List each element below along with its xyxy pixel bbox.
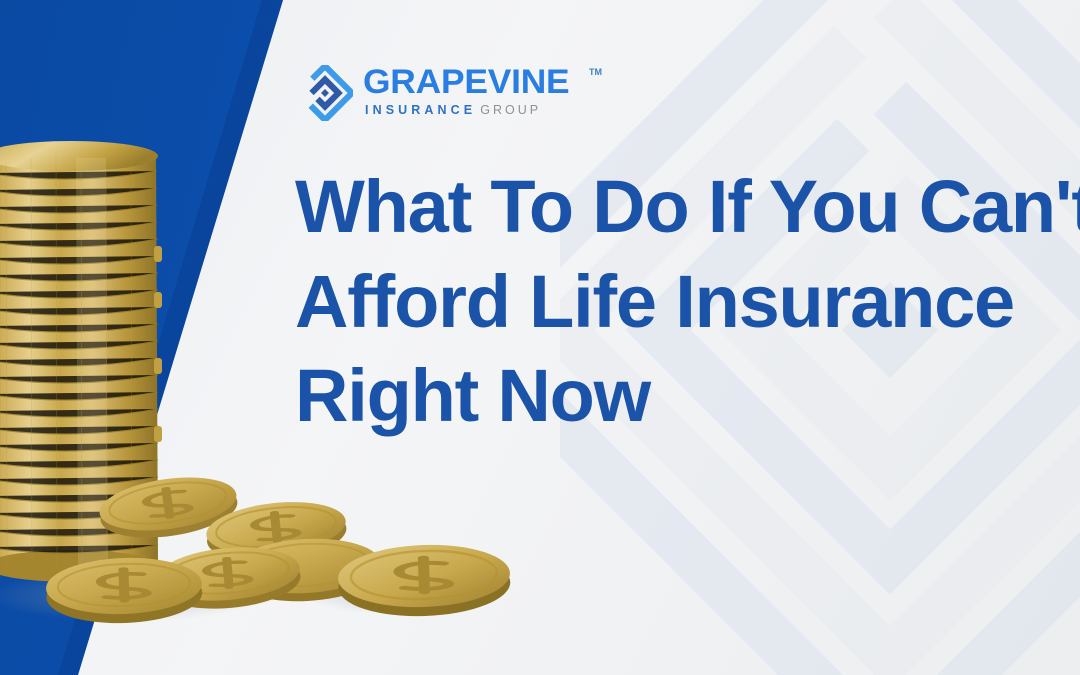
logo-wordmark: GRAPEVINE [363,65,569,99]
headline-line-3: Right Now [295,349,1080,444]
logo-subline-group: GROUP [480,103,541,117]
logo-wordmark-group: GRAPEVINE TM INSURANCEGROUP [363,64,595,122]
headline-line-1: What To Do If You Can't [295,160,1080,255]
logo-subline: INSURANCEGROUP [365,104,541,117]
grapevine-diamond-spiral-icon [297,65,353,121]
hero-banner: GRAPEVINE TM INSURANCEGROUP What To Do I… [0,0,1080,675]
blue-diagonal-wedge [0,0,340,675]
logo-subline-insurance: INSURANCE [365,103,476,117]
page-title: What To Do If You Can't Afford Life Insu… [295,160,1080,444]
logo-trademark-symbol: TM [589,67,602,77]
headline-line-2: Afford Life Insurance [295,255,1080,350]
brand-logo[interactable]: GRAPEVINE TM INSURANCEGROUP [297,62,595,124]
